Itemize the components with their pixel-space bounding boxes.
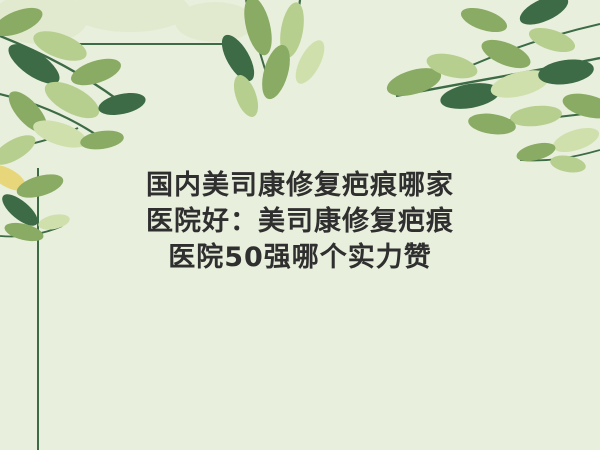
title-line-1: 国内美司康修复疤痕哪家	[60, 168, 540, 204]
branch-top-right	[384, 0, 600, 157]
title-line-3: 医院50强哪个实力赞	[60, 240, 540, 276]
poster-canvas: 国内美司康修复疤痕哪家 医院好：美司康修复疤痕 医院50强哪个实力赞	[0, 0, 600, 450]
title-line-2: 医院好：美司康修复疤痕	[60, 204, 540, 240]
poster-title: 国内美司康修复疤痕哪家 医院好：美司康修复疤痕 医院50强哪个实力赞	[60, 168, 540, 276]
